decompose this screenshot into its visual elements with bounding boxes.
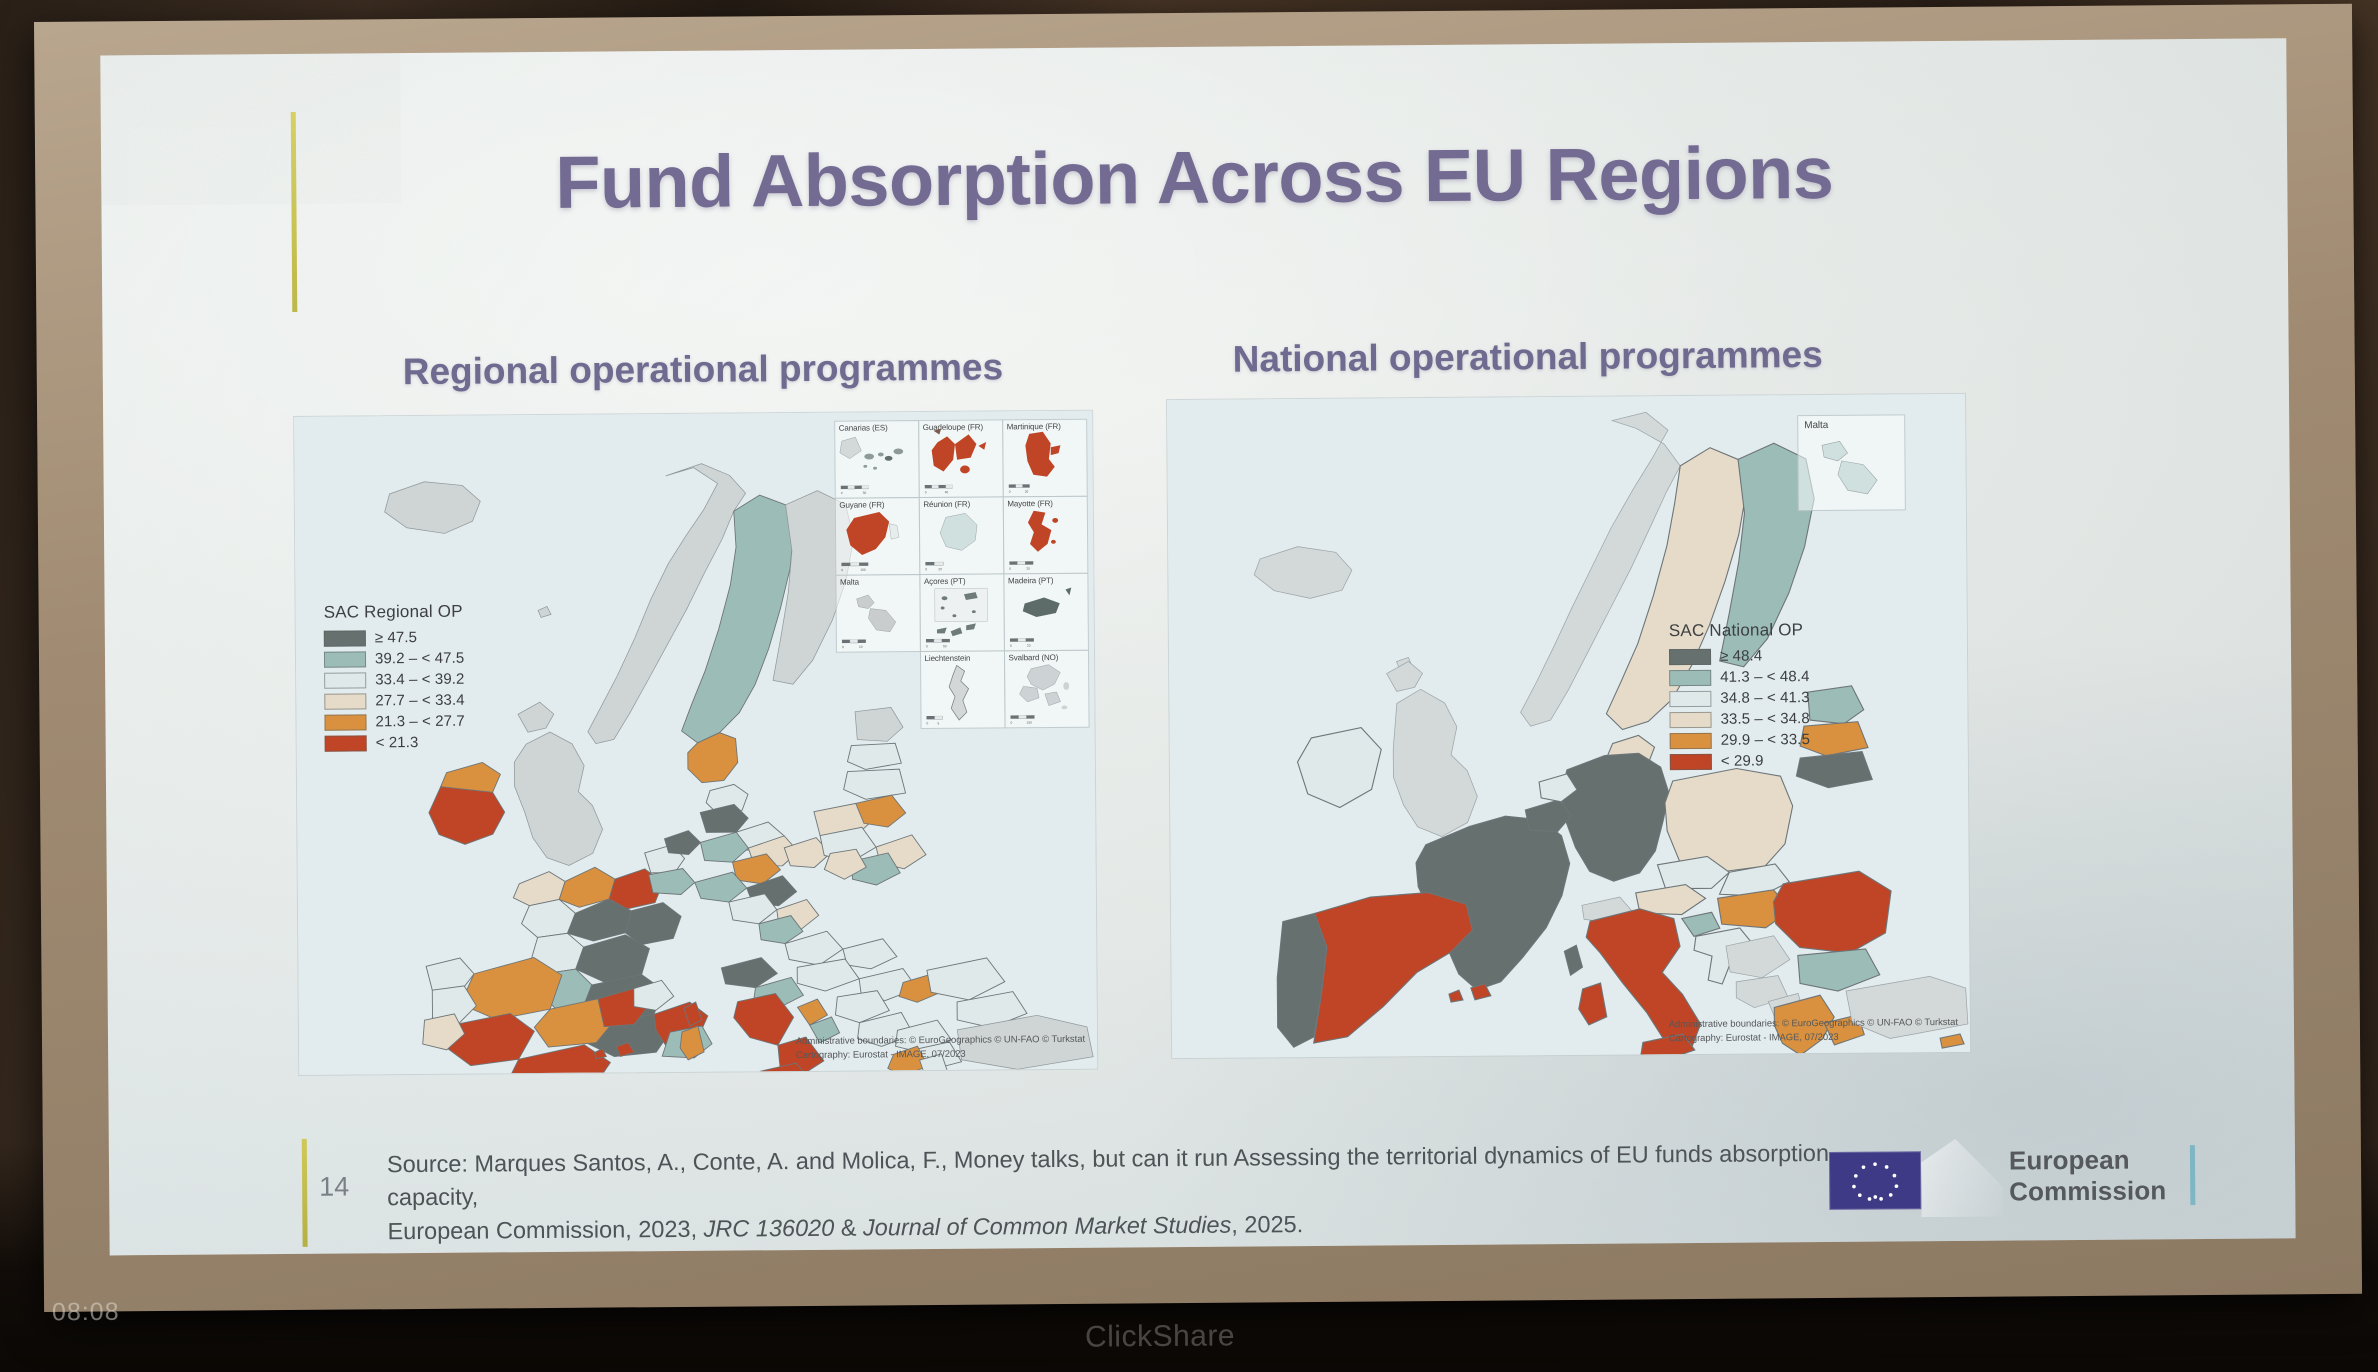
eu-flag-icon [1829, 1151, 1921, 1210]
inset-canarias: Canarias (ES) [834, 420, 920, 499]
eu-stars-icon [1830, 1152, 1920, 1209]
eu-logo-line-1: European [2009, 1145, 2166, 1177]
inset-mayotte: Mayotte (FR) 020 [1002, 495, 1088, 574]
scale-bar: 020 [925, 561, 953, 570]
svg-text:0: 0 [924, 490, 926, 494]
eu-logo-accent-bar [2190, 1145, 2195, 1205]
svg-text:20: 20 [1026, 643, 1030, 647]
svg-text:0: 0 [925, 644, 927, 648]
scale-bar: 0100 [841, 562, 869, 571]
svg-text:150: 150 [1026, 720, 1032, 724]
regional-legend-class-4: 21.3 – < 27.7 [324, 713, 464, 731]
regional-map-attribution: Administrative boundaries: © EuroGeograp… [796, 1033, 1085, 1063]
clickshare-label: ClickShare [1085, 1319, 1235, 1354]
national-map-attribution: Administrative boundaries: © EuroGeograp… [1669, 1016, 1958, 1046]
scale-bar: 0150 [1010, 715, 1038, 724]
regional-legend-class-0: ≥ 47.5 [324, 629, 464, 647]
national-legend-label-5: < 29.9 [1721, 752, 1764, 769]
scale-bar: 020 [1009, 638, 1037, 647]
svg-text:0: 0 [1010, 720, 1012, 724]
national-legend-label-4: 29.9 – < 33.5 [1721, 731, 1810, 749]
svg-text:40: 40 [944, 490, 948, 494]
national-inset-malta: Malta [1797, 414, 1906, 511]
regional-legend-label-1: 39.2 – < 47.5 [375, 650, 464, 668]
scale-bar: 05 [926, 715, 954, 724]
national-legend-title: SAC National OP [1669, 620, 1809, 641]
scale-bar: 020 [1009, 561, 1037, 570]
national-legend-swatch-2 [1669, 690, 1711, 706]
malta-shape-national [1798, 415, 1905, 510]
national-legend-swatch-4 [1670, 732, 1712, 748]
regional-legend-swatch-3 [324, 693, 366, 709]
svg-text:100: 100 [860, 567, 866, 571]
regional-legend-label-3: 27.7 – < 33.4 [375, 692, 464, 710]
scale-bar: 020 [1008, 484, 1036, 493]
scale-bar: 050 [840, 485, 868, 494]
presentation-slide: Fund Absorption Across EU Regions Region… [100, 38, 2295, 1255]
room-background: Fund Absorption Across EU Regions Region… [0, 0, 2378, 1372]
accent-bar-bottom [302, 1139, 308, 1247]
regional-legend-label-0: ≥ 47.5 [375, 629, 417, 646]
european-commission-logo: European Commission [1801, 1131, 2196, 1222]
national-legend-label-0: ≥ 48.4 [1720, 647, 1762, 664]
regional-legend-label-4: 21.3 – < 27.7 [375, 713, 464, 731]
national-legend-class-0: ≥ 48.4 [1669, 647, 1809, 665]
svg-text:5: 5 [937, 721, 939, 725]
eu-flag-wrap [1801, 1133, 2002, 1223]
regional-legend-label-5: < 21.3 [376, 734, 419, 751]
svg-text:20: 20 [1024, 489, 1028, 493]
svg-text:20: 20 [938, 567, 942, 571]
national-panel-heading: National operational programmes [1233, 334, 1823, 381]
logo-sheen [1921, 1139, 2004, 1218]
eu-logo-text: European Commission [2009, 1145, 2167, 1208]
svg-text:50: 50 [862, 490, 866, 494]
regional-legend-swatch-1 [324, 651, 366, 667]
inset-svalbard: Svalbard (NO) 0150 [1003, 649, 1089, 728]
regional-legend-swatch-4 [324, 714, 366, 730]
inset-reunion: Réunion (FR) 020 [918, 496, 1004, 575]
inset-liechtenstein: Liechtenstein 05 [919, 650, 1005, 729]
regional-legend-class-1: 39.2 – < 47.5 [324, 650, 464, 668]
national-legend-swatch-1 [1669, 669, 1711, 685]
regional-legend: SAC Regional OP ≥ 47.539.2 – < 47.533.4 … [324, 602, 465, 756]
regional-legend-swatch-5 [325, 735, 367, 751]
national-legend-swatch-0 [1669, 648, 1711, 664]
regional-legend-title: SAC Regional OP [324, 602, 464, 623]
regional-legend-class-2: 33.4 – < 39.2 [324, 671, 464, 689]
inset-empty-slot [835, 651, 921, 730]
svg-text:0: 0 [926, 721, 928, 725]
national-legend-class-4: 29.9 – < 33.5 [1670, 731, 1810, 749]
page-title: Fund Absorption Across EU Regions [101, 126, 2288, 228]
svg-text:0: 0 [840, 491, 842, 495]
inset-guadeloupe: Guadeloupe (FR) 040 [918, 419, 1004, 498]
eu-logo-line-2: Commission [2009, 1175, 2166, 1207]
inset-malta-regional: Malta 010 [835, 574, 921, 653]
source-line-1: Source: Marques Santos, A., Conte, A. an… [387, 1137, 1867, 1215]
projection-screen-frame: Fund Absorption Across EU Regions Region… [34, 4, 2362, 1312]
regional-map-panel: .b { stroke:#6d7578; stroke-width:.9; } … [293, 410, 1098, 1076]
inset-guyane: Guyane (FR) 0100 [834, 497, 920, 576]
national-legend-class-5: < 29.9 [1670, 752, 1810, 770]
inset-acores: Açores (PT) [919, 573, 1005, 652]
national-legend: SAC National OP ≥ 48.441.3 – < 48.434.8 … [1669, 620, 1810, 774]
national-legend-swatch-3 [1669, 711, 1711, 727]
scale-bar: 040 [924, 484, 952, 493]
regional-legend-swatch-2 [324, 672, 366, 688]
national-legend-label-1: 41.3 – < 48.4 [1720, 668, 1809, 686]
national-legend-class-1: 41.3 – < 48.4 [1669, 668, 1809, 686]
national-legend-label-2: 34.8 – < 41.3 [1720, 689, 1809, 707]
regional-legend-label-2: 33.4 – < 39.2 [375, 671, 464, 689]
svg-text:0: 0 [925, 567, 927, 571]
national-legend-class-2: 34.8 – < 41.3 [1669, 689, 1809, 707]
regional-legend-class-3: 27.7 – < 33.4 [324, 692, 464, 710]
regional-legend-rows: ≥ 47.539.2 – < 47.533.4 – < 39.227.7 – <… [324, 629, 465, 752]
source-citation: Source: Marques Santos, A., Conte, A. an… [387, 1137, 1868, 1249]
svg-text:50: 50 [942, 644, 946, 648]
regional-legend-swatch-0 [324, 630, 366, 646]
inset-martinique: Martinique (FR) 020 [1002, 418, 1088, 497]
national-legend-label-3: 33.5 – < 34.8 [1720, 710, 1809, 728]
svg-text:0: 0 [1009, 566, 1011, 570]
svg-text:0: 0 [1009, 643, 1011, 647]
national-legend-rows: ≥ 48.441.3 – < 48.434.8 – < 41.333.5 – <… [1669, 647, 1810, 770]
svg-text:0: 0 [1008, 489, 1010, 493]
slide-number: 14 [319, 1172, 349, 1203]
svg-text:10: 10 [858, 644, 862, 648]
scale-bar: 010 [841, 639, 869, 648]
svg-text:0: 0 [841, 645, 843, 649]
projector-clock: 08:08 [52, 1298, 120, 1328]
inset-madeira: Madeira (PT) 020 [1003, 572, 1089, 651]
regional-panel-heading: Regional operational programmes [403, 346, 1004, 393]
svg-text:0: 0 [841, 568, 843, 572]
national-map-panel: .nb { stroke:#6d7578; stroke-width:1.1; … [1166, 393, 1971, 1059]
regional-inset-grid: Canarias (ES) [834, 419, 1088, 729]
regional-legend-class-5: < 21.3 [325, 734, 465, 752]
scale-bar: 050 [925, 638, 953, 647]
svg-text:20: 20 [1026, 566, 1030, 570]
national-legend-class-3: 33.5 – < 34.8 [1669, 710, 1809, 728]
national-legend-swatch-5 [1670, 753, 1712, 769]
